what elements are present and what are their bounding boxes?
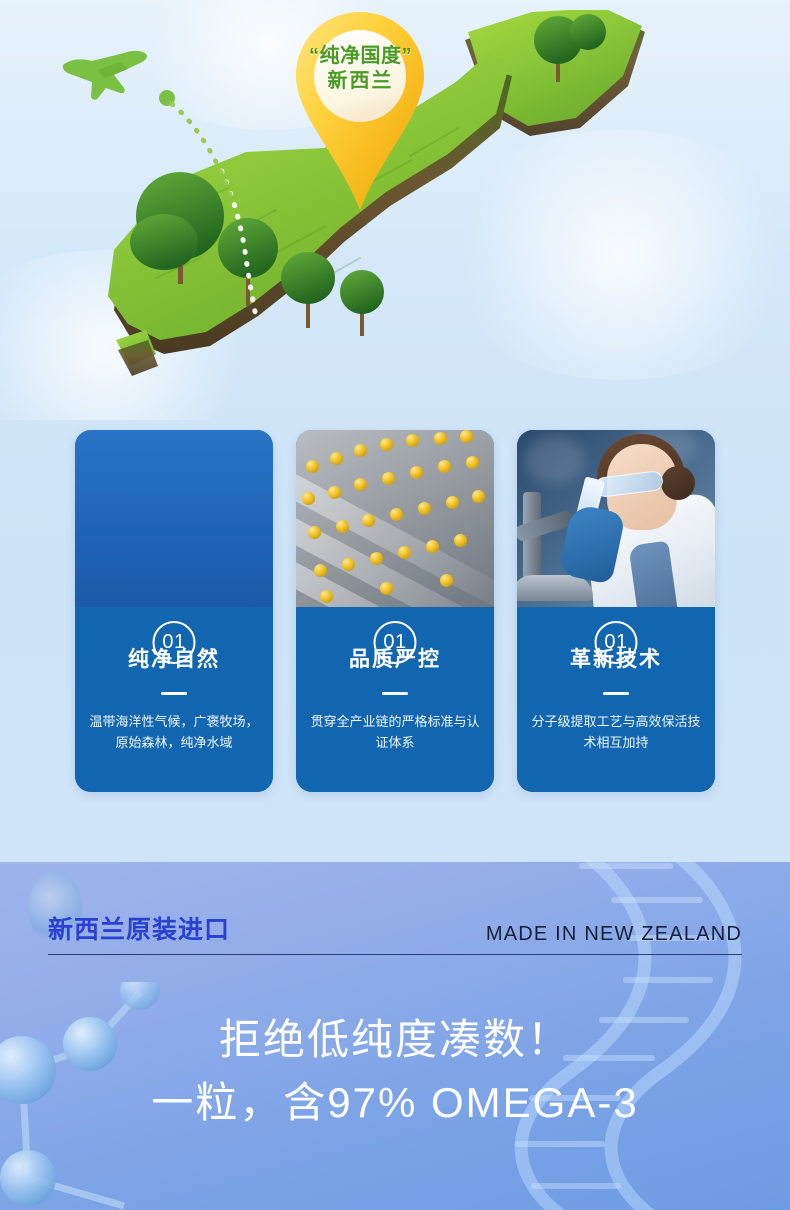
softgel-capsules-photo (296, 430, 494, 607)
pin-label-line2: 新西兰 (288, 69, 433, 94)
hero-map-section: “纯净国度” 新西兰 (0, 0, 790, 420)
pin-label: “纯净国度” 新西兰 (288, 44, 433, 94)
card-description: 温带海洋性气候，广褒牧场，原始森林，纯净水域 (88, 711, 260, 753)
mountain-lake-photo (75, 430, 273, 607)
band-slogan: 拒绝低纯度凑数！ 一粒，含97% OMEGA-3 (0, 1012, 790, 1131)
card-divider (382, 692, 408, 695)
card-badge: 01 (595, 621, 638, 664)
feature-card-quality-control[interactable]: 01 品质严控 贯穿全产业链的严格标准与认证体系 (296, 430, 494, 792)
slogan-line-1: 拒绝低纯度凑数！ (0, 1012, 790, 1069)
band-heading: 新西兰原装进口 MADE IN NEW ZEALAND (48, 910, 742, 955)
feature-card-pure-nature[interactable]: 01 纯净自然 温带海洋性气候，广褒牧场，原始森林，纯净水域 (75, 430, 273, 792)
made-in-nz-section: 新西兰原装进口 MADE IN NEW ZEALAND 拒绝低纯度凑数！ 一粒，… (0, 862, 790, 1210)
card-description: 贯穿全产业链的严格标准与认证体系 (309, 711, 481, 753)
card-divider (161, 692, 187, 695)
card-description: 分子级提取工艺与高效保活技术相互加持 (530, 711, 702, 753)
band-title-cn: 新西兰原装进口 (48, 910, 230, 946)
card-divider (603, 692, 629, 695)
slogan-line-2: 一粒，含97% OMEGA-3 (0, 1075, 790, 1132)
lab-scientist-photo (517, 430, 715, 607)
card-body: 01 品质严控 贯穿全产业链的严格标准与认证体系 (296, 643, 494, 792)
card-body: 01 纯净自然 温带海洋性气候，广褒牧场，原始森林，纯净水域 (75, 643, 273, 792)
feature-card-innovative-tech[interactable]: 01 革新技术 分子级提取工艺与高效保活技术相互加持 (517, 430, 715, 792)
card-badge: 01 (153, 621, 196, 664)
feature-cards: 01 纯净自然 温带海洋性气候，广褒牧场，原始森林，纯净水域 (0, 430, 790, 800)
product-detail-page: “纯净国度” 新西兰 01 (0, 0, 790, 1210)
pin-label-line1: “纯净国度” (288, 44, 433, 69)
card-body: 01 革新技术 分子级提取工艺与高效保活技术相互加持 (517, 643, 715, 792)
map-pin: “纯净国度” 新西兰 (288, 8, 433, 218)
card-badge: 01 (374, 621, 417, 664)
band-title-en: MADE IN NEW ZEALAND (486, 923, 742, 946)
